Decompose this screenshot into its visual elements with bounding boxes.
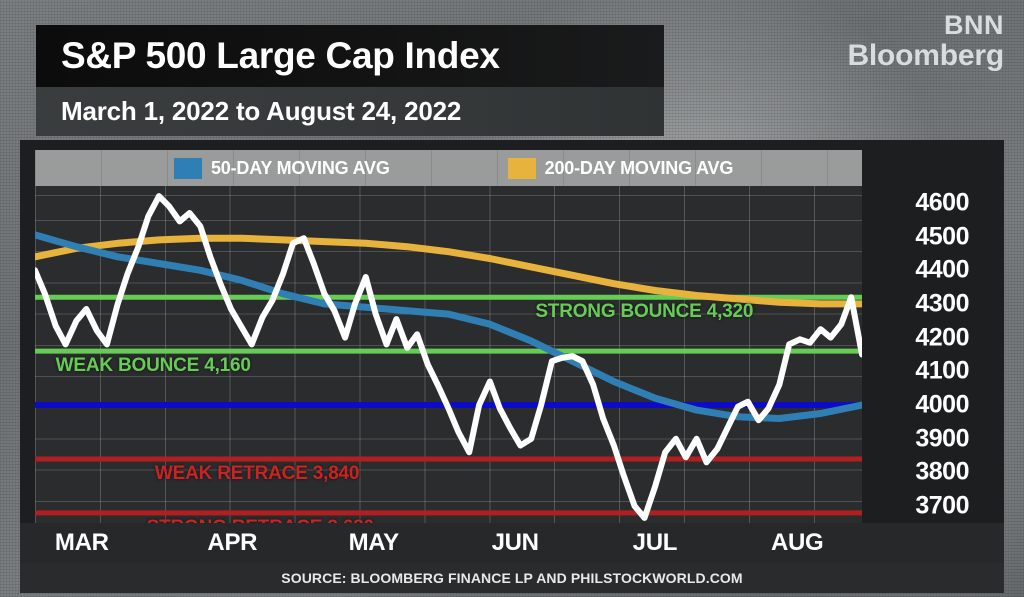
y-axis-tick: 4600: [915, 188, 969, 217]
x-axis-tick: APR: [207, 529, 257, 557]
chart-legend: 50-DAY MOVING AVG 200-DAY MOVING AVG: [35, 150, 862, 186]
annotation-weak-bounce: WEAK BOUNCE 4,160: [56, 355, 251, 377]
chart-screenshot: S&P 500 Large Cap Index March 1, 2022 to…: [0, 0, 1024, 597]
source-bar: SOURCE: BLOOMBERG FINANCE LP AND PHILSTO…: [20, 563, 1004, 593]
legend-swatch-200day: [508, 158, 536, 179]
x-axis-tick: MAR: [55, 529, 109, 557]
logo-line-bloomberg: Bloomberg: [847, 41, 1004, 71]
y-axis-tick: 4500: [915, 222, 969, 251]
y-axis: 4600450044004300420041004000390038003700: [862, 186, 982, 523]
y-axis-tick: 4300: [915, 289, 969, 318]
y-axis-tick: 3900: [915, 424, 969, 453]
x-axis: MARAPRMAYJUNJULAUG: [20, 523, 1004, 563]
source-label: SOURCE: BLOOMBERG FINANCE LP AND PHILSTO…: [281, 570, 742, 586]
annotation-weak-retrace: WEAK RETRACE 3,840: [155, 463, 359, 485]
legend-item-50day: 50-DAY MOVING AVG: [174, 158, 390, 179]
title-bar: S&P 500 Large Cap Index: [36, 25, 664, 87]
y-axis-tick: 4200: [915, 323, 969, 352]
y-axis-tick: 4100: [915, 357, 969, 386]
annotation-strong-retrace: STRONG RETRACE 3,680: [147, 517, 374, 523]
plot-area: STRONG BOUNCE 4,320WEAK BOUNCE 4,160WEAK…: [35, 186, 862, 523]
page-title: S&P 500 Large Cap Index: [36, 35, 500, 77]
series-path: [35, 238, 862, 304]
series-path: [35, 235, 862, 419]
subtitle-bar: March 1, 2022 to August 24, 2022: [36, 87, 664, 136]
y-axis-tick: 3800: [915, 458, 969, 487]
date-range-label: March 1, 2022 to August 24, 2022: [36, 96, 461, 127]
y-axis-tick: 4000: [915, 391, 969, 420]
bnn-bloomberg-logo: BNN Bloomberg: [847, 12, 1004, 71]
y-axis-tick: 4400: [915, 256, 969, 285]
x-axis-tick: AUG: [771, 529, 823, 557]
x-axis-tick: JUN: [492, 529, 539, 557]
legend-item-200day: 200-DAY MOVING AVG: [508, 158, 733, 179]
legend-label-50day: 50-DAY MOVING AVG: [211, 158, 390, 179]
x-axis-tick: JUL: [633, 529, 677, 557]
x-axis-tick: MAY: [349, 529, 399, 557]
y-axis-tick: 3700: [915, 492, 969, 521]
legend-swatch-50day: [174, 158, 202, 179]
logo-line-bnn: BNN: [847, 12, 1004, 39]
legend-label-200day: 200-DAY MOVING AVG: [545, 158, 733, 179]
annotation-strong-bounce: STRONG BOUNCE 4,320: [535, 301, 753, 323]
